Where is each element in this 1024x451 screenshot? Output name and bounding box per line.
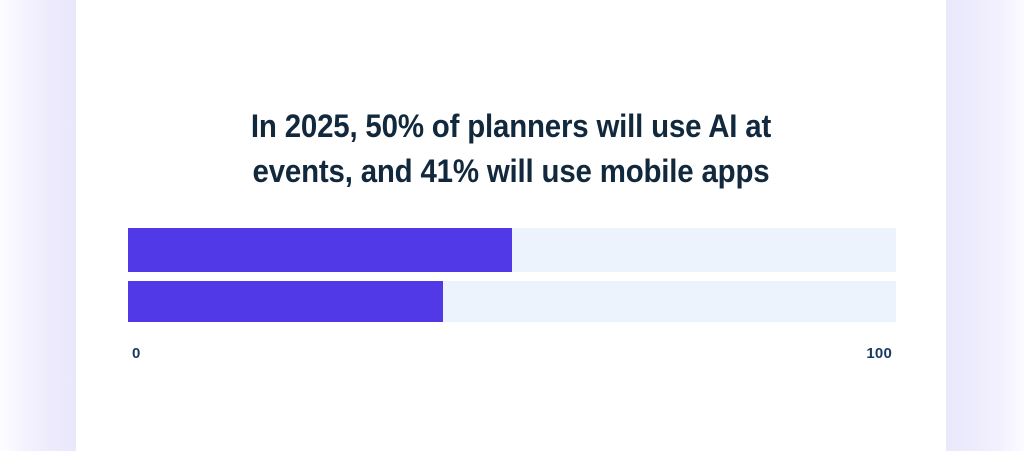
right-gradient-strip bbox=[946, 0, 1024, 451]
bar-track bbox=[128, 228, 896, 272]
axis-tick-min: 0 bbox=[132, 344, 141, 364]
chart-card: In 2025, 50% of planners will use AI at … bbox=[76, 0, 946, 451]
chart-title: In 2025, 50% of planners will use AI at … bbox=[111, 104, 911, 194]
bar-track bbox=[128, 281, 896, 322]
axis-tick-max: 100 bbox=[866, 344, 892, 364]
left-gradient-strip bbox=[0, 0, 76, 451]
chart-canvas: In 2025, 50% of planners will use AI at … bbox=[0, 0, 1024, 451]
bar-fill-mobile-apps bbox=[128, 281, 443, 322]
x-axis: 0 100 bbox=[128, 344, 896, 366]
bar-fill-ai-at-events bbox=[128, 228, 512, 272]
bar-chart-plot bbox=[128, 228, 896, 322]
